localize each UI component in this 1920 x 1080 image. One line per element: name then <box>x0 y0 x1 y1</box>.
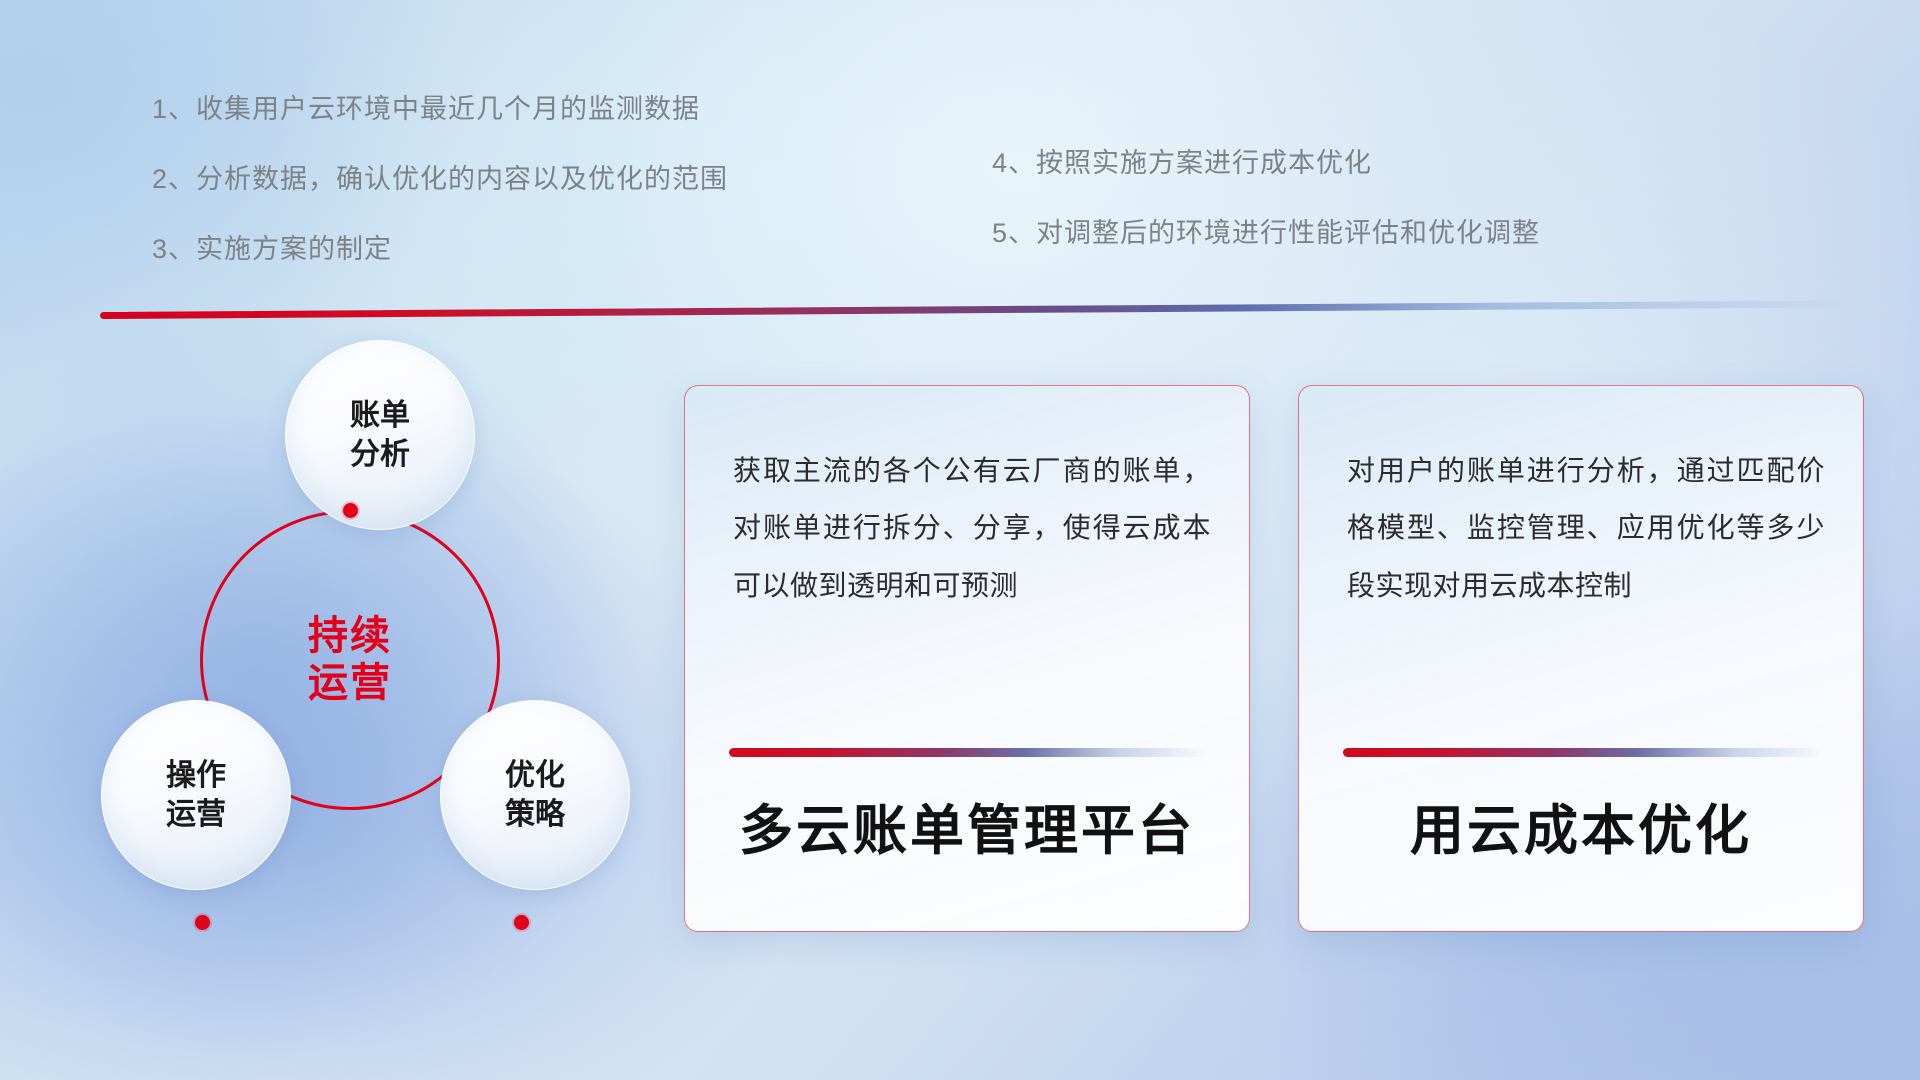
step-item-5: 5、对调整后的环境进行性能评估和优化调整 <box>992 220 1540 247</box>
steps-left-column: 1、收集用户云环境中最近几个月的监测数据 2、分析数据，确认优化的内容以及优化的… <box>152 96 728 306</box>
step-item-4: 4、按照实施方案进行成本优化 <box>992 150 1540 177</box>
connector-node-top <box>343 503 358 518</box>
step-item-3: 3、实施方案的制定 <box>152 236 728 263</box>
card-multi-cloud-bill-platform[interactable]: 获取主流的各个公有云厂商的账单，对账单进行拆分、分享，使得云成本可以做到透明和可… <box>684 385 1250 932</box>
continuous-operations-diagram: 持续 运营 账单 分析 操作 运营 优化 策略 <box>90 340 610 960</box>
step-item-1: 1、收集用户云环境中最近几个月的监测数据 <box>152 96 728 123</box>
card-cloud-cost-optimization-title: 用云成本优化 <box>1299 786 1863 865</box>
bubble-optimization-strategy[interactable]: 优化 策略 <box>440 700 630 890</box>
bubble-optimization-strategy-line2: 策略 <box>505 795 565 834</box>
bubble-bill-analysis-label: 账单 分析 <box>350 396 410 474</box>
bubble-operations-line2: 运营 <box>166 795 226 834</box>
bubble-bill-analysis-line2: 分析 <box>350 435 410 474</box>
bubble-optimization-strategy-line1: 优化 <box>505 756 565 795</box>
connector-node-left <box>195 915 210 930</box>
bubble-operations[interactable]: 操作 运营 <box>101 700 291 890</box>
bubble-operations-label: 操作 运营 <box>166 756 226 834</box>
bubble-bill-analysis[interactable]: 账单 分析 <box>285 340 475 530</box>
card-multi-cloud-bill-platform-rule <box>729 748 1205 757</box>
slide-canvas: 1、收集用户云环境中最近几个月的监测数据 2、分析数据，确认优化的内容以及优化的… <box>0 0 1920 1080</box>
steps-right-column: 4、按照实施方案进行成本优化 5、对调整后的环境进行性能评估和优化调整 <box>992 150 1540 290</box>
card-cloud-cost-optimization-rule <box>1343 748 1819 757</box>
card-multi-cloud-bill-platform-body: 获取主流的各个公有云厂商的账单，对账单进行拆分、分享，使得云成本可以做到透明和可… <box>733 442 1211 614</box>
step-item-2: 2、分析数据，确认优化的内容以及优化的范围 <box>152 166 728 193</box>
card-multi-cloud-bill-platform-title: 多云账单管理平台 <box>685 786 1249 865</box>
bubble-optimization-strategy-label: 优化 策略 <box>505 756 565 834</box>
center-ring-label-line2: 运营 <box>308 660 392 707</box>
card-cloud-cost-optimization[interactable]: 对用户的账单进行分析，通过匹配价格模型、监控管理、应用优化等多少段实现对用云成本… <box>1298 385 1864 932</box>
bubble-bill-analysis-line1: 账单 <box>350 396 410 435</box>
bubble-operations-line1: 操作 <box>166 756 226 795</box>
center-ring-label: 持续 运营 <box>308 613 392 707</box>
center-ring-label-line1: 持续 <box>308 613 392 660</box>
connector-node-right <box>514 915 529 930</box>
card-cloud-cost-optimization-body: 对用户的账单进行分析，通过匹配价格模型、监控管理、应用优化等多少段实现对用云成本… <box>1347 442 1825 614</box>
